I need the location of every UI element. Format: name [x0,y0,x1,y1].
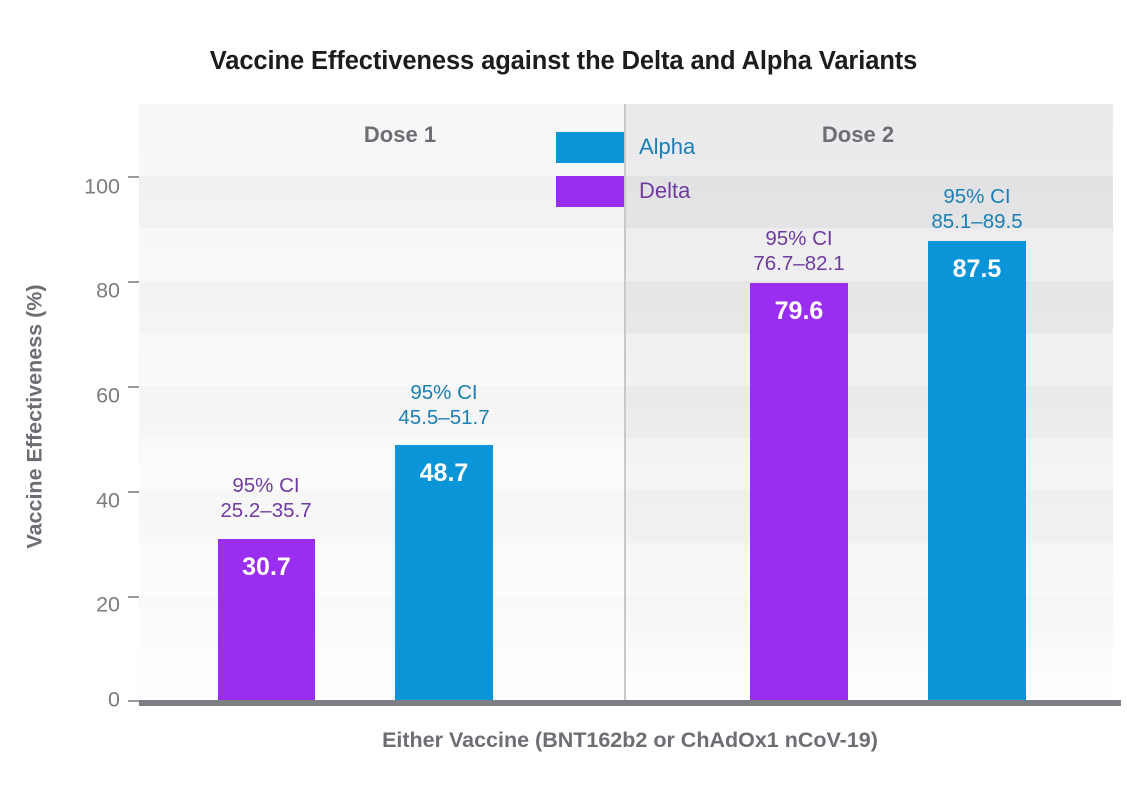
ytick-label-80: 80 [60,279,120,304]
grid-band [139,333,624,385]
grid-band [625,281,1113,333]
chart-figure: Vaccine Effectiveness against the Delta … [0,0,1127,801]
chart-title: Vaccine Effectiveness against the Delta … [0,47,1127,76]
legend-label-alpha: Alpha [639,134,695,160]
legend-swatch-alpha [556,132,624,163]
grid-band [139,595,624,647]
legend-item-alpha[interactable]: Alpha [556,128,695,166]
legend-item-delta[interactable]: Delta [556,172,695,210]
bar-value-dose2-alpha: 87.5 [928,255,1026,284]
legend-swatch-delta [556,176,624,207]
bar-value-dose1-delta: 30.7 [218,553,315,582]
grid-band [139,281,624,333]
x-axis-title: Either Vaccine (BNT162b2 or ChAdOx1 nCoV… [139,728,1121,753]
ytick-mark-40 [128,491,139,493]
ytick-mark-0 [128,700,139,702]
ytick-mark-20 [128,596,139,598]
ytick-mark-80 [128,281,139,283]
ytick-label-60: 60 [60,384,120,409]
group-label-dose1: Dose 1 [300,122,500,148]
ytick-label-40: 40 [60,489,120,514]
grid-band [139,176,624,228]
legend-label-delta: Delta [639,178,690,204]
ytick-mark-100 [128,176,139,178]
grid-band [625,333,1113,385]
grid-band [625,386,1113,438]
grid-band [139,228,624,280]
bar-ci-dose1-alpha: 95% CI 45.5–51.7 [354,380,534,430]
ytick-mark-60 [128,386,139,388]
bar-dose2-alpha[interactable]: 87.5 [928,241,1026,700]
bar-value-dose1-alpha: 48.7 [395,459,493,488]
bar-dose2-delta[interactable]: 79.6 [750,283,848,700]
grid-band [139,543,624,595]
bar-value-dose2-delta: 79.6 [750,297,848,326]
bar-ci-dose2-alpha: 95% CI 85.1–89.5 [887,184,1067,234]
grid-band [625,595,1113,647]
group-label-dose2: Dose 2 [758,122,958,148]
grid-band [139,648,624,700]
bar-ci-dose1-delta: 95% CI 25.2–35.7 [176,473,356,523]
grid-band [625,648,1113,700]
ytick-label-20: 20 [60,593,120,618]
bar-dose1-delta[interactable]: 30.7 [218,539,315,700]
bar-dose1-alpha[interactable]: 48.7 [395,445,493,700]
grid-band [625,543,1113,595]
bar-ci-dose2-delta: 95% CI 76.7–82.1 [709,226,889,276]
grid-band [625,438,1113,490]
x-axis-line [139,700,1121,706]
y-axis-title: Vaccine Effectiveness (%) [23,137,48,697]
ytick-label-100: 100 [60,175,120,200]
grid-band [625,490,1113,542]
ytick-label-0: 0 [60,688,120,713]
chart-legend: Alpha Delta [556,128,695,216]
